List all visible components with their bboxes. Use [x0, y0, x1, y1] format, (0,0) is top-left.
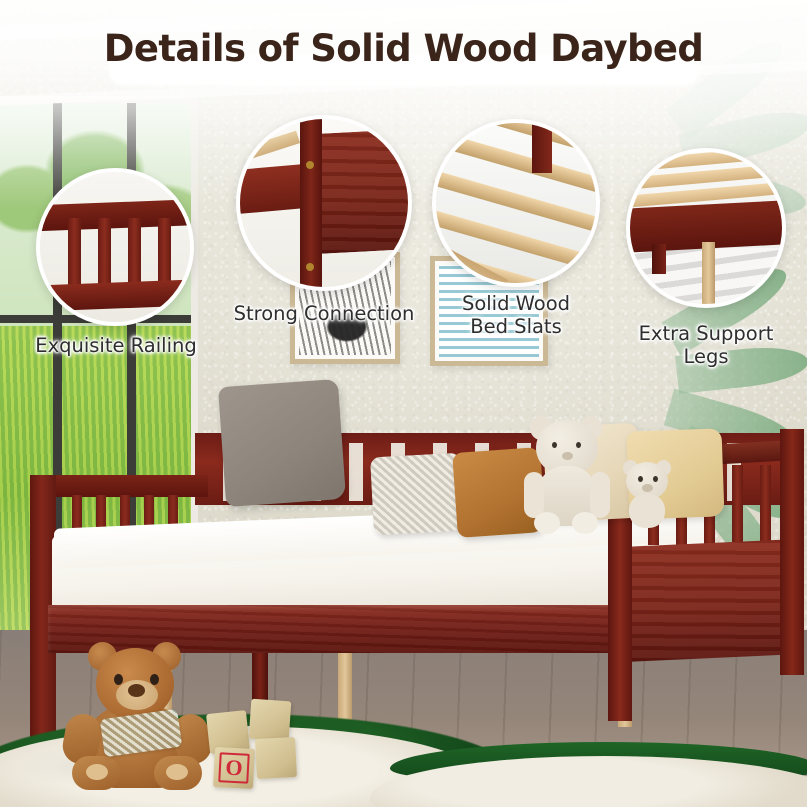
alphabet-block [249, 699, 292, 742]
callout-image-exquisite-railing [36, 168, 194, 326]
support-leg [338, 653, 352, 725]
plush-bear-small [620, 462, 672, 524]
pillow-herringbone [370, 453, 466, 536]
callout-label-solid-wood-bed-slats: Solid Wood Bed Slats [406, 292, 626, 338]
callout-image-solid-wood-bed-slats [432, 119, 600, 287]
page-title: Details of Solid Wood Daybed [0, 27, 807, 70]
callout-label-exquisite-railing: Exquisite Railing [6, 334, 226, 357]
alphabet-block [255, 737, 297, 779]
plush-bunny [524, 420, 610, 538]
callout-image-strong-connection [236, 115, 412, 291]
teddy-bear [62, 640, 222, 790]
block-letter: O [218, 752, 250, 784]
callout-image-extra-support-legs [626, 148, 786, 308]
alphabet-block-letter: O [213, 747, 255, 789]
callout-label-extra-support-legs: Extra Support Legs [598, 322, 807, 368]
pillow-gray [218, 379, 346, 507]
product-detail-image: O Details of Solid Wood Daybed Exquisite… [0, 0, 807, 807]
